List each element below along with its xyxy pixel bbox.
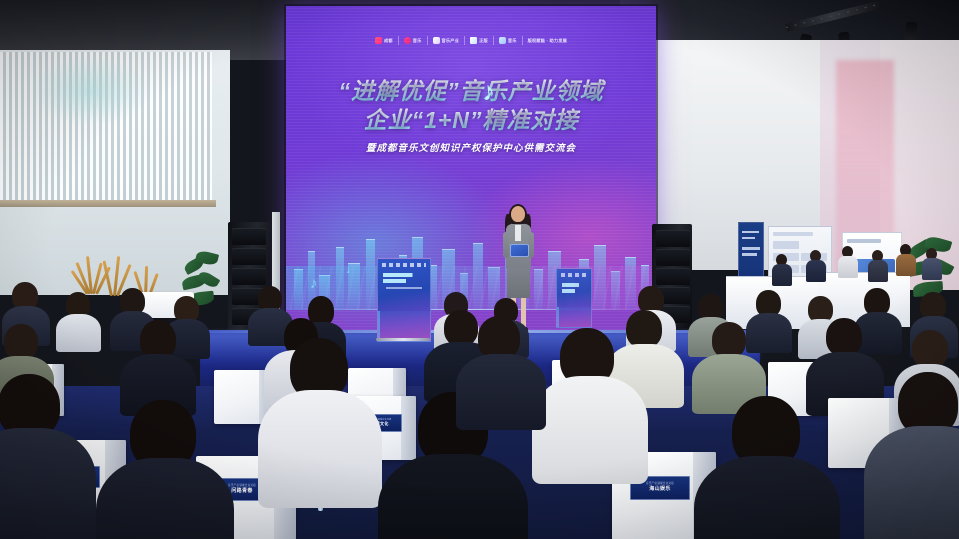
presenter-tablet [510,244,529,257]
conference-photo-scene: 成都 音乐 音乐产业 正版 音乐 版权赋能 · 助力发展 “进 [0,0,959,539]
led-backdrop-screen: 成都 音乐 音乐产业 正版 音乐 版权赋能 · 助力发展 “进 [286,6,656,336]
stage-rollup-banner [377,258,431,342]
sponsor-logo-4: 正版 [470,37,488,44]
led-title-line-1: “进解优促”音乐产业领域 [286,78,656,104]
dried-flower-arrangement [96,246,130,296]
sponsor-logo-5: 音乐 [499,37,517,44]
sponsor-logo-3: 音乐产业 [433,37,460,44]
sponsor-logo-2: 音乐 [404,37,422,44]
led-title-line-2: 企业“1+N”精准对接 [286,107,656,133]
stage-rollup-banner-base [376,338,430,341]
led-cityscape-graphic: ♪ ♩ ♫ [286,200,656,310]
sponsor-logo-strip: 成都 音乐 音乐产业 正版 音乐 版权赋能 · 助力发展 [286,36,656,45]
stage-secondary-standee [556,268,592,328]
sponsor-logo-1: 成都 [375,37,393,44]
window-daylight-glow [30,56,150,126]
window-sill [0,200,216,207]
led-headline-block: “进解优促”音乐产业领域 企业“1+N”精准对接 暨成都音乐文创知识产权保护中心… [286,78,656,154]
sponsor-tagline: 版权赋能 · 助力发展 [528,38,567,44]
led-subtitle: 暨成都音乐文创知识产权保护中心供需交流会 [286,140,656,154]
